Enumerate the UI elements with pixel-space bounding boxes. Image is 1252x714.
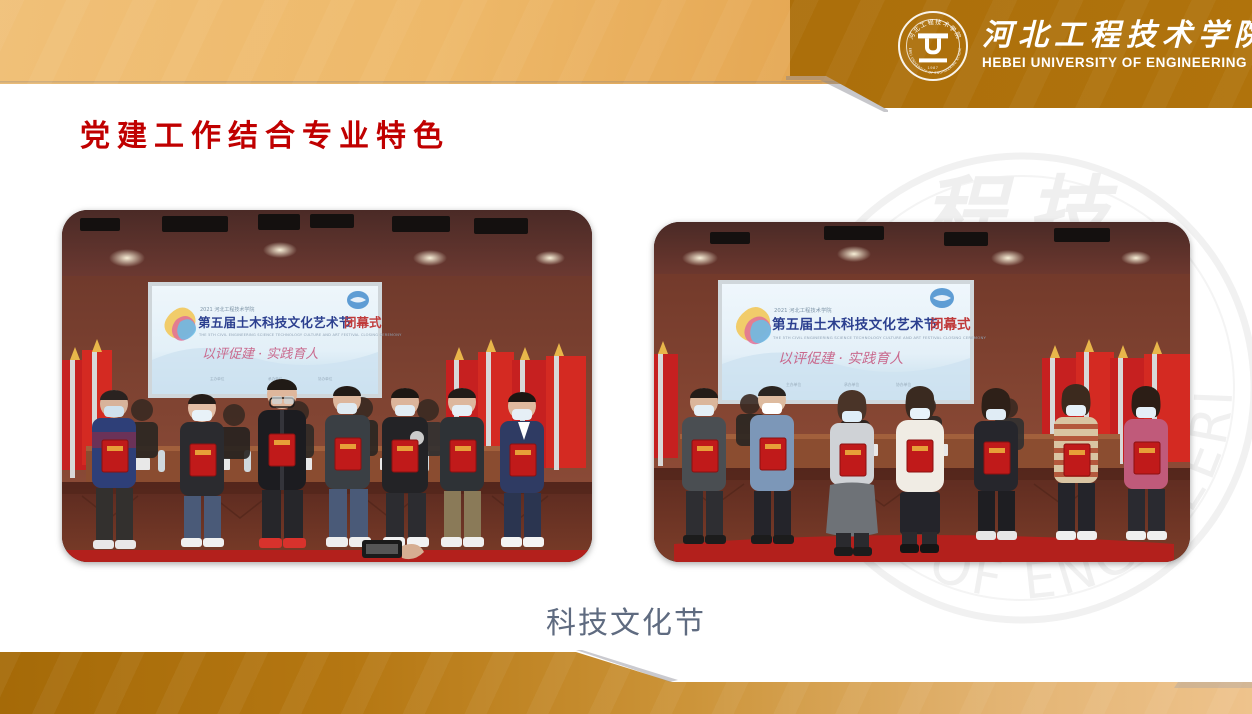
photo-left[interactable]: 2021 河北工程技术学院 第五届土木科技文化艺术节 闭幕式 THE 5TH C… [62, 210, 592, 562]
seal-emblem-icon [918, 30, 948, 60]
svg-text:THE 5TH CIVIL ENGINEERING SCIE: THE 5TH CIVIL ENGINEERING SCIENCE TECHNO… [198, 333, 402, 337]
svg-text:协办单位: 协办单位 [318, 376, 333, 381]
svg-text:第五届土木科技文化艺术节: 第五届土木科技文化艺术节 [772, 316, 938, 333]
photo-caption: 科技文化节 [0, 598, 1252, 642]
svg-text:协办单位: 协办单位 [896, 382, 911, 387]
slide-canvas: 河北工程技术学院 HEBEI UNIVERSITY OF ENGINEERING… [0, 0, 1252, 714]
wordmark-chinese: 河北工程技术学院 [982, 20, 1252, 52]
seal-year-label: 1987 [928, 65, 939, 70]
page-title: 党建工作结合专业特色 [80, 118, 450, 156]
svg-text:承办单位: 承办单位 [844, 382, 859, 387]
university-seal-icon: 河北工程技术学院 HEBEI UNIVERSITY OF ENGINEERING… [898, 11, 968, 81]
svg-text:主办单位: 主办单位 [210, 376, 225, 381]
wordmark-english: HEBEI UNIVERSITY OF ENGINEERING SCIENCE [982, 54, 1252, 72]
photo-right-image: 2021 河北工程技术学院 第五届土木科技文化艺术节 闭幕式 THE 5TH C… [654, 222, 1190, 562]
footer-band [0, 650, 1252, 714]
svg-text:闭幕式: 闭幕式 [344, 315, 382, 330]
svg-text:以评促建 · 实践育人: 以评促建 · 实践育人 [778, 351, 903, 367]
svg-text:2021 河北工程技术学院: 2021 河北工程技术学院 [200, 306, 254, 313]
university-logo-lockup: 河北工程技术学院 HEBEI UNIVERSITY OF ENGINEERING… [898, 8, 1252, 84]
photo-left-image: 2021 河北工程技术学院 第五届土木科技文化艺术节 闭幕式 THE 5TH C… [62, 210, 592, 562]
svg-text:主办单位: 主办单位 [786, 382, 801, 387]
photo-right[interactable]: 2021 河北工程技术学院 第五届土木科技文化艺术节 闭幕式 THE 5TH C… [654, 222, 1190, 562]
svg-text:2021 河北工程技术学院: 2021 河北工程技术学院 [774, 306, 832, 314]
university-wordmark: 河北工程技术学院 HEBEI UNIVERSITY OF ENGINEERING… [982, 20, 1252, 72]
svg-text:闭幕式: 闭幕式 [930, 316, 971, 333]
svg-text:THE 5TH CIVIL ENGINEERING SCIE: THE 5TH CIVIL ENGINEERING SCIENCE TECHNO… [772, 335, 987, 340]
svg-text:以评促建 · 实践育人: 以评促建 · 实践育人 [202, 346, 318, 362]
svg-text:第五届土木科技文化艺术节: 第五届土木科技文化艺术节 [198, 315, 352, 330]
